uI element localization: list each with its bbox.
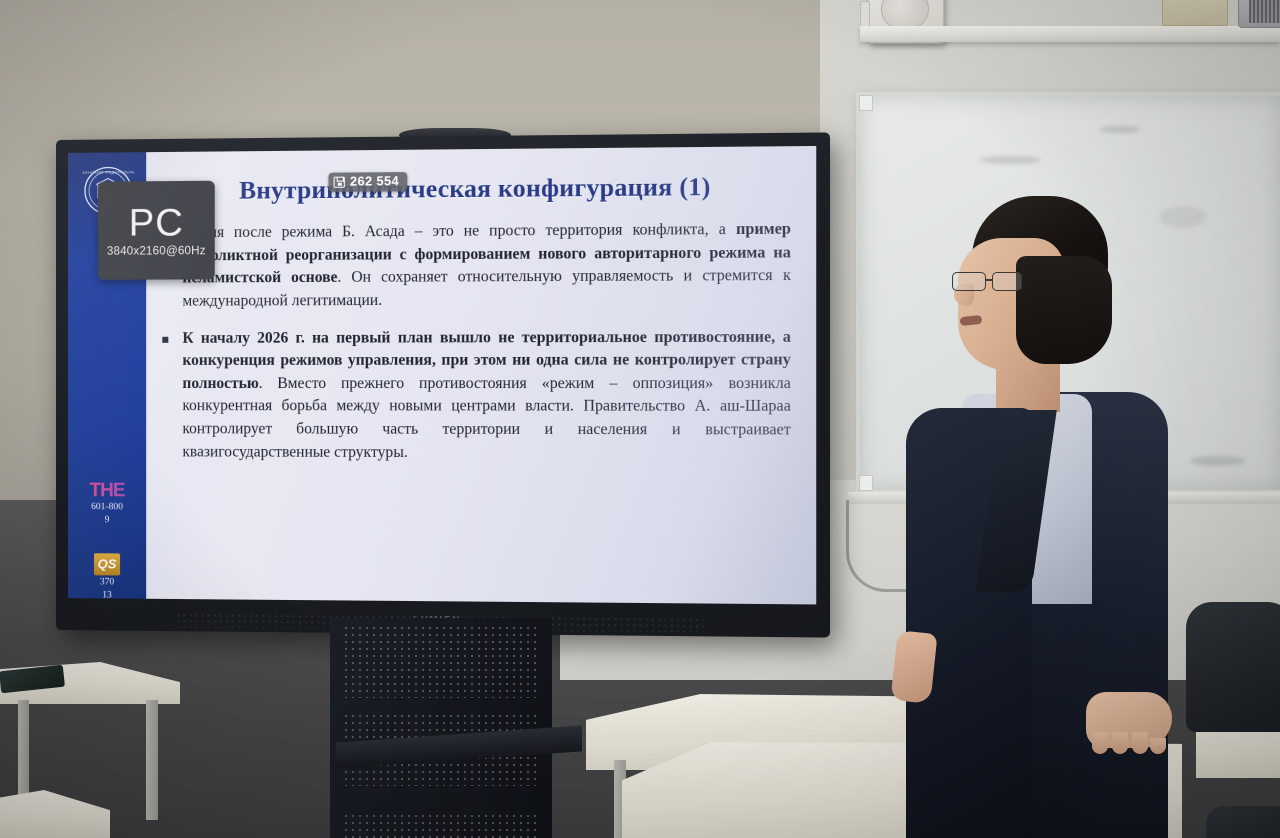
desk-left-leg bbox=[146, 700, 158, 820]
presenter-left-hand bbox=[890, 630, 937, 704]
finger bbox=[1092, 732, 1108, 754]
slide-title: Внутриполитическая конфигурация (1) bbox=[162, 173, 791, 206]
presenter-right-hand bbox=[1086, 692, 1172, 748]
finger bbox=[1112, 732, 1128, 754]
display-floor-stand bbox=[330, 618, 552, 838]
whiteboard-corner-bracket bbox=[859, 475, 873, 491]
projector-grill bbox=[1249, 0, 1280, 23]
slide-bullet-2-text: К началу 2026 г. на первый план вышло не… bbox=[182, 326, 790, 466]
bullet-square-icon bbox=[162, 327, 182, 463]
ranking-the-secondary: 9 bbox=[68, 515, 146, 526]
wall-shelf bbox=[860, 26, 1280, 42]
finger bbox=[1132, 732, 1148, 754]
ranking-the-position: 601-800 bbox=[68, 502, 146, 513]
finger bbox=[1150, 738, 1166, 754]
projector bbox=[1238, 0, 1280, 28]
save-counter-badge[interactable]: 262 554 bbox=[329, 172, 408, 192]
chair-front-right bbox=[1206, 806, 1280, 838]
glasses-lens-right bbox=[992, 272, 1022, 291]
the-logo-icon: THE bbox=[68, 481, 146, 500]
display-screen[interactable]: КАЗАНСКИЙ ФЕДЕРАЛЬНЫЙ THE 601-800 9 QS 3… bbox=[68, 146, 816, 605]
presenter-glasses-icon bbox=[952, 272, 1034, 292]
save-counter-value: 262 554 bbox=[350, 174, 399, 189]
presenter bbox=[900, 196, 1200, 838]
ranking-qs-secondary: 13 bbox=[68, 590, 146, 602]
shelf-box-wizz: Wizz bbox=[1162, 0, 1228, 26]
whiteboard-smudge bbox=[980, 156, 1040, 164]
interactive-display-panel[interactable]: КАЗАНСКИЙ ФЕДЕРАЛЬНЫЙ THE 601-800 9 QS 3… bbox=[56, 132, 830, 637]
save-disk-icon bbox=[334, 176, 345, 187]
slide-content: Внутриполитическая конфигурация (1) Сири… bbox=[146, 146, 816, 605]
classroom-scene: Wizz bbox=[0, 0, 1280, 838]
whiteboard-smudge bbox=[1100, 126, 1140, 133]
stand-perforation bbox=[344, 626, 540, 698]
svg-text:КАЗАНСКИЙ ФЕДЕРАЛЬНЫЙ: КАЗАНСКИЙ ФЕДЕРАЛЬНЫЙ bbox=[82, 170, 134, 175]
ranking-the: THE 601-800 9 bbox=[68, 481, 146, 526]
ranking-qs-position: 370 bbox=[68, 577, 146, 589]
ranking-qs: QS 370 13 bbox=[68, 553, 146, 602]
wall-cable bbox=[846, 500, 908, 592]
input-source-label: PC bbox=[129, 204, 184, 243]
glasses-lens-left bbox=[952, 272, 986, 291]
qs-logo-icon: QS bbox=[94, 553, 120, 575]
input-source-osd: PC 3840x2160@60Hz bbox=[98, 181, 215, 280]
slide-bullet-1: Сирия после режима Б. Асада – это не про… bbox=[162, 218, 791, 313]
chair-right bbox=[1186, 602, 1280, 732]
speaker-bracket bbox=[860, 1, 870, 27]
stand-perforation bbox=[344, 814, 540, 838]
slide-bullet-2: К началу 2026 г. на первый план вышло не… bbox=[162, 326, 791, 466]
whiteboard-corner-bracket bbox=[859, 95, 873, 111]
input-resolution-label: 3840x2160@60Hz bbox=[107, 245, 206, 258]
presentation-slide: КАЗАНСКИЙ ФЕДЕРАЛЬНЫЙ THE 601-800 9 QS 3… bbox=[68, 146, 816, 605]
slide-bullet-1-text: Сирия после режима Б. Асада – это не про… bbox=[182, 218, 790, 313]
